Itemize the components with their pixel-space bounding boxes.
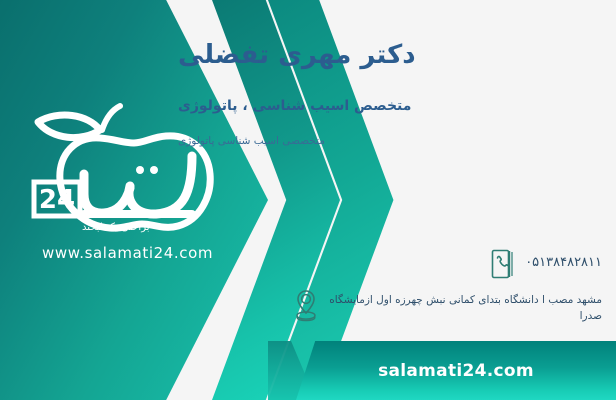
address-line-2: صدرا (329, 308, 602, 324)
svg-text:24: 24 (39, 185, 75, 215)
contact-address-row[interactable]: مشهد مصب ا دانشگاه بتدای کمانی نبش چهرزه… (293, 288, 602, 325)
doctor-specialty-alt: متخصصی اسیب شناسی پاتولوژی (178, 135, 598, 147)
doctor-name: دکتر مهری تفضلی (178, 40, 598, 71)
brand-logo: 24 براحتی یک لبخند www.salamati24.com (14, 96, 230, 276)
phonebook-icon (489, 248, 515, 280)
map-pin-icon (293, 288, 319, 320)
footer-website[interactable]: salamati24.com (296, 341, 616, 400)
business-card: 24 براحتی یک لبخند www.salamati24.com دک… (0, 0, 616, 400)
address-text: مشهد مصب ا دانشگاه بتدای کمانی نبش چهرزه… (329, 288, 602, 325)
brand-tagline: براحتی یک لبخند (82, 222, 222, 233)
brand-url[interactable]: www.salamati24.com (42, 244, 213, 262)
contact-phone-row[interactable]: ۰۵۱۳۸۴۸۲۸۱۱ (489, 248, 602, 280)
phone-number: ۰۵۱۳۸۴۸۲۸۱۱ (525, 248, 602, 270)
doctor-specialty: متخصص اسیب شناسی ، پاتولوژی (178, 98, 598, 114)
badge-24-icon: 24 (34, 182, 80, 216)
address-line-1: مشهد مصب ا دانشگاه بتدای کمانی نبش چهرزه… (329, 292, 602, 308)
